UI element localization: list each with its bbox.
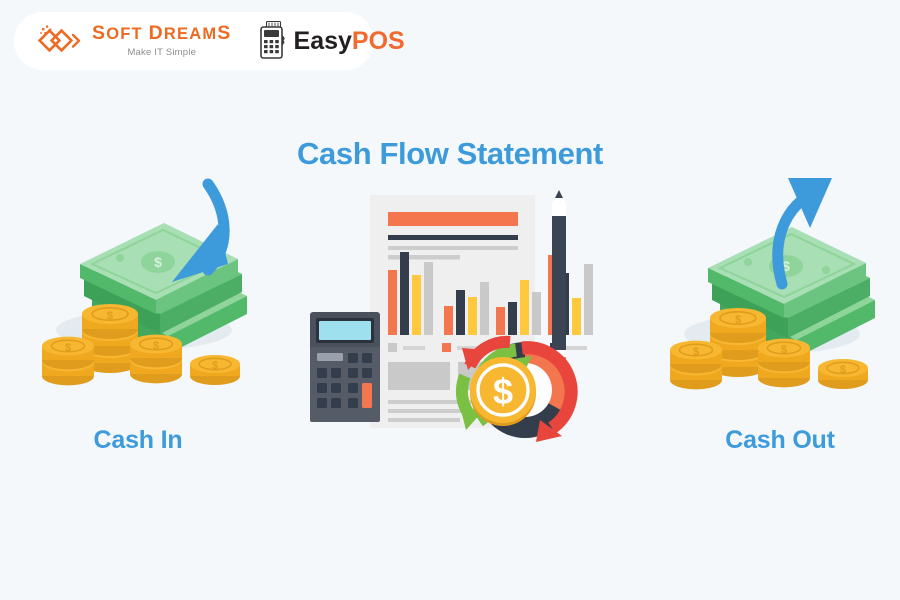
svg-text:$: $ — [65, 342, 71, 354]
svg-text:$: $ — [154, 254, 162, 270]
interlocking-diamonds-logo-icon — [36, 24, 86, 58]
svg-text:$: $ — [493, 371, 513, 412]
soft-dreams-wordmark: SOFT DREAMS — [92, 24, 232, 44]
svg-text:$: $ — [283, 38, 288, 47]
svg-text:$: $ — [153, 340, 159, 352]
cash-out-caption: Cash Out — [650, 426, 900, 455]
easypos-pos-text: POS — [352, 27, 405, 55]
svg-text:$: $ — [840, 364, 846, 376]
svg-text:$: $ — [212, 360, 218, 372]
pos-terminal-icon: $ — [258, 21, 290, 61]
soft-dreams-logo[interactable]: SOFT DREAMS Make IT Simple — [36, 24, 232, 58]
calculator-icon — [310, 312, 380, 422]
easypos-logo[interactable]: $ EasyPOS — [258, 21, 405, 61]
easypos-easy-text: Easy — [294, 27, 352, 55]
easypos-wordmark: EasyPOS — [294, 29, 405, 54]
branding-logo-card: SOFT DREAMS Make IT Simple — [14, 12, 374, 70]
cash-out-illustration: $ $ $ $ — [660, 172, 900, 417]
document-header-bar — [388, 212, 518, 226]
cash-in-caption: Cash In — [8, 426, 268, 455]
svg-text:$: $ — [781, 344, 787, 356]
svg-text:$: $ — [693, 346, 699, 358]
cash-in-illustration: $ $ $ — [32, 178, 272, 418]
pencil-icon — [552, 190, 566, 373]
page-title: Cash Flow Statement — [0, 136, 900, 172]
soft-dreams-tagline: Make IT Simple — [127, 47, 196, 58]
report-illustration: $ — [300, 190, 600, 440]
svg-text:$: $ — [107, 310, 113, 322]
svg-text:$: $ — [735, 314, 741, 326]
